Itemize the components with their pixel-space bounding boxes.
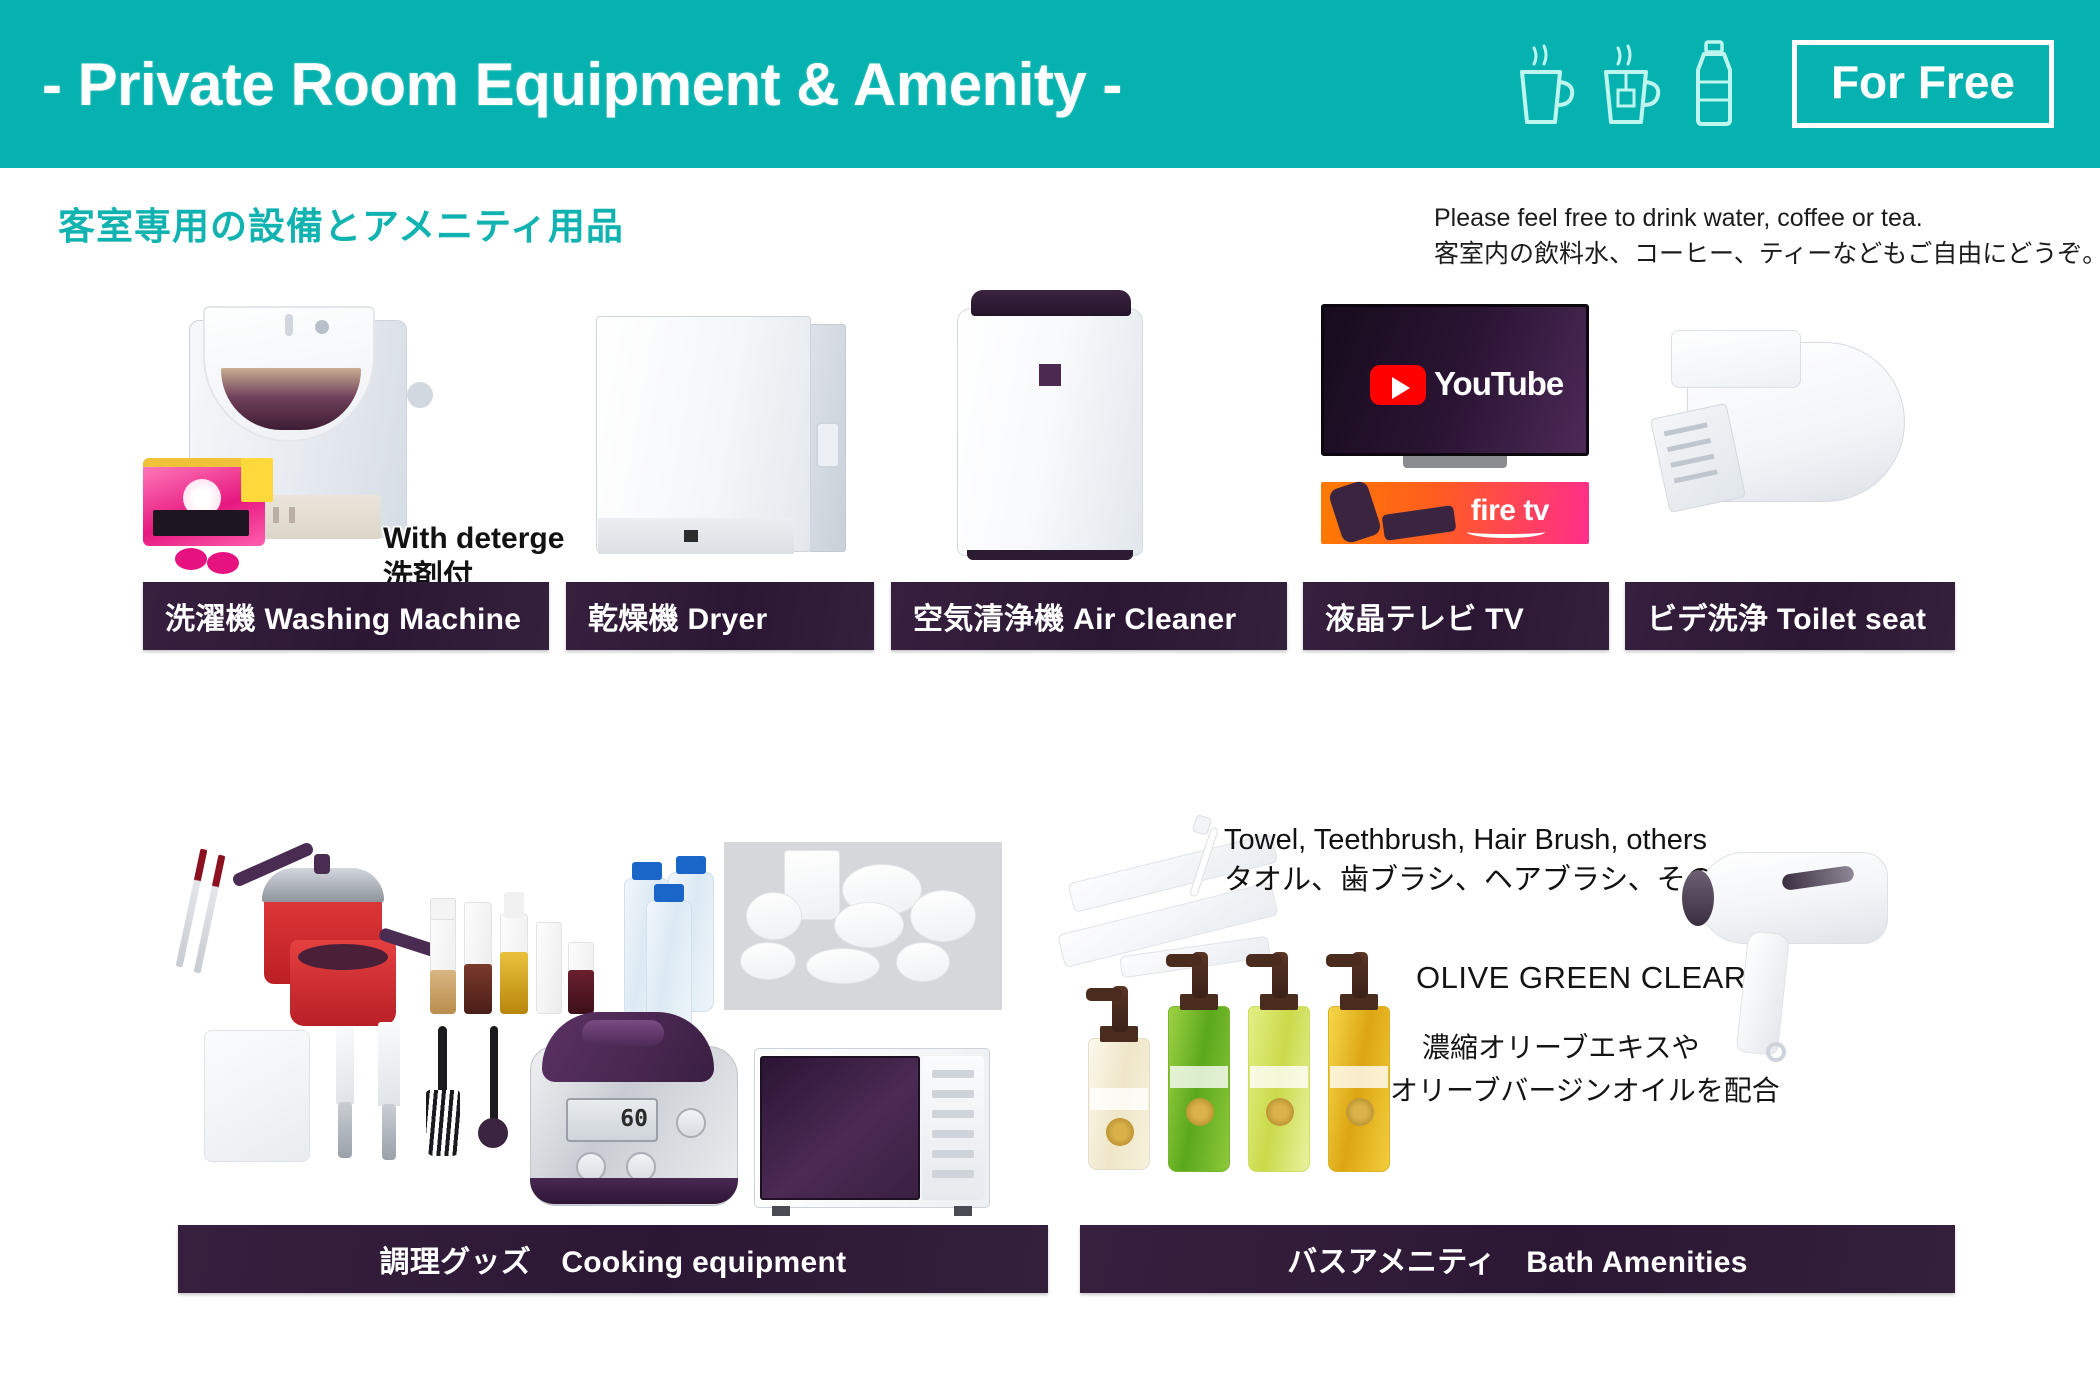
television-photo: YouTube fire tv bbox=[1303, 290, 1609, 582]
tea-cup-icon bbox=[1600, 38, 1664, 130]
label-dryer: 乾燥機 Dryer bbox=[566, 582, 874, 650]
air-cleaner-illustration bbox=[957, 290, 1147, 560]
bowl-illustration bbox=[746, 892, 802, 940]
for-free-badge: For Free bbox=[1792, 40, 2054, 128]
microwave-illustration bbox=[754, 1048, 990, 1216]
tableware-photo bbox=[724, 842, 1002, 1010]
pump-nozzle-illustration bbox=[1166, 954, 1202, 967]
sauce-content-illustration bbox=[464, 964, 492, 1014]
label-toilet-seat: ビデ洗浄 Toilet seat bbox=[1625, 582, 1955, 650]
oil-cap-illustration bbox=[504, 892, 524, 918]
bottle-seal-icon bbox=[1186, 1098, 1214, 1126]
youtube-play-triangle-icon bbox=[1392, 377, 1410, 399]
poster-page: - Private Room Equipment & Amenity - bbox=[0, 0, 2100, 1400]
page-header: - Private Room Equipment & Amenity - bbox=[0, 0, 2100, 168]
plate-illustration bbox=[910, 890, 976, 942]
drink-notice: Please feel free to drink water, coffee … bbox=[1434, 200, 2054, 273]
towel-callout-jp: タオル、歯ブラシ、ヘアブラシ、その他 bbox=[1224, 860, 1744, 901]
air-cleaner-photo bbox=[891, 290, 1287, 582]
olive-desc-line-2: オリーブバージンオイルを配合 bbox=[1390, 1069, 1950, 1112]
condiment-bottle-illustration bbox=[536, 922, 562, 1014]
card-bath-amenities: Towel, Teethbrush, Hair Brush, others タオ… bbox=[1080, 830, 1955, 1293]
fire-tv-wordmark: fire tv bbox=[1471, 494, 1549, 528]
label-bath-amenities: バスアメニティ Bath Amenities bbox=[1080, 1225, 1955, 1293]
knife-handle-illustration bbox=[382, 1104, 396, 1160]
ladle-handle-illustration bbox=[490, 1026, 498, 1124]
header-icon-group: For Free bbox=[1514, 0, 2054, 168]
water-bottle-cap-illustration bbox=[632, 862, 662, 880]
fire-tv-remote-icon bbox=[1327, 479, 1382, 545]
card-toilet-seat: ビデ洗浄 Toilet seat bbox=[1625, 290, 1955, 650]
drink-notice-en: Please feel free to drink water, coffee … bbox=[1434, 200, 2054, 236]
pump-nozzle-illustration bbox=[1086, 988, 1122, 1001]
with-detergent-en: With detergent bbox=[383, 520, 593, 558]
knife-handle-illustration bbox=[338, 1102, 352, 1158]
youtube-wordmark: YouTube bbox=[1434, 365, 1563, 403]
fire-tv-stick-icon bbox=[1382, 505, 1457, 541]
bottle-label-illustration bbox=[1090, 1088, 1148, 1110]
page-title: - Private Room Equipment & Amenity - bbox=[42, 50, 1122, 119]
saucepan-illustration bbox=[290, 940, 396, 1026]
label-washing-machine: 洗濯機 Washing Machine bbox=[143, 582, 549, 650]
bath-amenities-photo: Towel, Teethbrush, Hair Brush, others タオ… bbox=[1080, 830, 1955, 1225]
coffee-cup-icon bbox=[1514, 38, 1578, 130]
rice-cooker-display-value: 60 bbox=[620, 1106, 648, 1132]
cutting-board-illustration bbox=[204, 1030, 310, 1162]
television-illustration: YouTube fire tv bbox=[1321, 304, 1591, 484]
card-tv: YouTube fire tv 液晶テレビ TV bbox=[1303, 290, 1609, 650]
clothes-dryer-photo bbox=[566, 290, 874, 582]
bottle-label-illustration bbox=[1250, 1066, 1308, 1088]
bottle-label-illustration bbox=[1170, 1066, 1228, 1088]
bowl-illustration bbox=[896, 942, 950, 982]
bidet-toilet-seat-illustration bbox=[1659, 324, 1909, 534]
water-bottle-cap-illustration bbox=[676, 856, 706, 874]
cooking-equipment-photo: 60 bbox=[178, 830, 1048, 1225]
bottle-seal-icon bbox=[1346, 1098, 1374, 1126]
shampoo-bottle-illustration bbox=[1168, 1006, 1230, 1172]
bidet-toilet-seat-photo bbox=[1625, 290, 1955, 582]
card-cooking-equipment: 60 調理グッズ Cooking equipment bbox=[178, 830, 1048, 1293]
pump-nozzle-illustration bbox=[1246, 954, 1282, 967]
hair-dryer-illustration bbox=[1670, 840, 1920, 1070]
subtitle-jp: 客室専用の設備とアメニティ用品 bbox=[58, 196, 624, 250]
rice-cooker-illustration: 60 bbox=[530, 1012, 740, 1208]
water-bottle-icon bbox=[1686, 38, 1750, 130]
bottle-seal-icon bbox=[1106, 1118, 1134, 1146]
knife-blade-illustration bbox=[378, 1022, 400, 1106]
towel-callout-en: Towel, Teethbrush, Hair Brush, others bbox=[1224, 822, 1744, 860]
card-washing-machine: With detergent 洗剤付 洗濯機 Washing Machine bbox=[143, 290, 549, 650]
label-air-cleaner: 空気清浄機 Air Cleaner bbox=[891, 582, 1287, 650]
detergent-pod-illustration bbox=[207, 552, 239, 574]
body-shampoo-bottle-illustration bbox=[1328, 1006, 1390, 1172]
conditioner-bottle-illustration bbox=[1248, 1006, 1310, 1172]
label-cooking-equipment: 調理グッズ Cooking equipment bbox=[178, 1225, 1048, 1293]
washing-machine-photo: With detergent 洗剤付 bbox=[143, 290, 549, 582]
bottle-seal-icon bbox=[1266, 1098, 1294, 1126]
detergent-pod-illustration bbox=[175, 548, 207, 570]
turner-illustration bbox=[426, 1026, 460, 1158]
oil-content-illustration bbox=[500, 952, 528, 1014]
ladle-bowl-illustration bbox=[478, 1118, 508, 1148]
condiment-cap-illustration bbox=[430, 898, 456, 920]
bottle-label-illustration bbox=[1330, 1066, 1388, 1088]
plate-illustration bbox=[834, 902, 904, 948]
knife-blade-illustration bbox=[336, 1026, 354, 1104]
water-bottle-cap-illustration bbox=[654, 884, 684, 902]
detergent-pack-illustration bbox=[143, 458, 265, 546]
drink-notice-jp: 客室内の飲料水、コーヒー、ティーなどもご自由にどうぞ。 bbox=[1434, 236, 2054, 272]
card-dryer: 乾燥機 Dryer bbox=[566, 290, 874, 650]
amazon-smile-icon bbox=[1467, 526, 1545, 538]
label-tv: 液晶テレビ TV bbox=[1303, 582, 1609, 650]
spice-content-illustration bbox=[430, 970, 456, 1014]
plate-illustration bbox=[806, 948, 880, 984]
fire-tv-banner: fire tv bbox=[1321, 482, 1589, 544]
pump-nozzle-illustration bbox=[1326, 954, 1362, 967]
for-free-label: For Free bbox=[1831, 55, 2015, 109]
bowl-illustration bbox=[740, 942, 796, 980]
pot-knob-illustration bbox=[314, 854, 330, 874]
card-air-cleaner: 空気清浄機 Air Cleaner bbox=[891, 290, 1287, 650]
towel-callout: Towel, Teethbrush, Hair Brush, others タオ… bbox=[1224, 822, 1744, 900]
clothes-dryer-illustration bbox=[596, 316, 846, 556]
vinegar-content-illustration bbox=[568, 970, 594, 1014]
